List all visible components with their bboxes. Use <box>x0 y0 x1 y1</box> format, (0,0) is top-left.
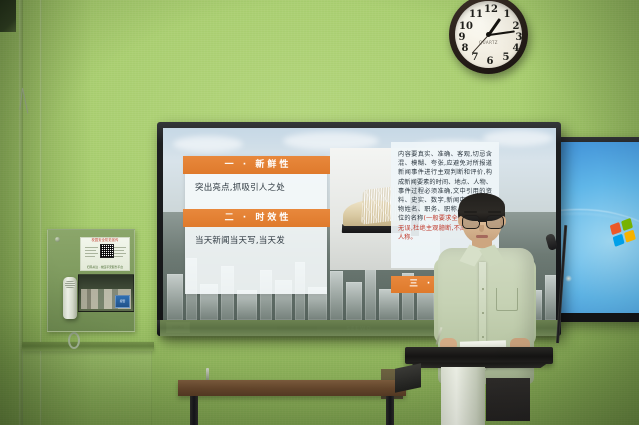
poster-title: 校园安全防范宣传 <box>81 238 129 243</box>
eyebrow-right <box>488 211 501 213</box>
eyebrow-left <box>464 211 477 213</box>
slide-heading-2: 二 · 时效性 <box>183 209 333 227</box>
bench-leg-left <box>190 396 198 425</box>
clock-number-8: 8 <box>459 43 471 55</box>
clock-number-9: 9 <box>456 32 468 44</box>
lectern <box>405 347 553 425</box>
telephone-handset[interactable] <box>63 277 77 319</box>
slide-body-1: 突出亮点,抓吸引人之处 <box>185 174 327 201</box>
student-bench <box>178 380 406 396</box>
slide-heading-1: 一 · 新鲜性 <box>183 156 333 174</box>
clock-number-5: 5 <box>500 52 512 64</box>
safety-poster: 校园安全防范宣传 扫码关注 · 校园平安服务平台 <box>80 237 130 271</box>
screw-icon <box>55 237 60 242</box>
qr-code-icon <box>100 244 114 258</box>
clock-number-10: 10 <box>459 21 471 33</box>
slide-left-card: 一 · 新鲜性 突出亮点,抓吸引人之处 二 · 时效性 当天新闻当天写,当天发 <box>185 156 327 294</box>
lectern-column <box>441 367 485 425</box>
clock-face: 12 1 2 3 4 5 6 7 8 9 10 11 QUARTZ <box>455 1 522 68</box>
clock-center-pin <box>486 32 491 37</box>
handset-earpiece-icon <box>65 281 75 288</box>
mouth <box>476 235 488 238</box>
bench-leg-right <box>386 396 394 425</box>
slide-body-2: 当天新闻当天写,当天发 <box>185 227 327 254</box>
poster-footer: 扫码关注 · 校园平安服务平台 <box>83 265 127 269</box>
shirt-pocket <box>496 288 518 311</box>
intercom-panel[interactable]: 校园安全防范宣传 扫码关注 · 校园平安服务平台 报警 <box>47 229 135 332</box>
emergency-call-button[interactable]: 报警 <box>115 295 130 308</box>
nose <box>479 225 484 232</box>
classroom-photo: 12 1 2 3 4 5 6 7 8 9 10 11 QUARTZ 校园安全防范… <box>0 0 639 425</box>
lectern-top <box>405 347 553 364</box>
clock-number-12: 12 <box>484 4 496 16</box>
clock-number-1: 1 <box>501 9 513 21</box>
wallpaper-glow <box>565 275 572 282</box>
clock-number-6: 6 <box>484 56 496 68</box>
clock-number-11: 11 <box>469 9 481 21</box>
panel-window: 报警 <box>78 274 134 312</box>
